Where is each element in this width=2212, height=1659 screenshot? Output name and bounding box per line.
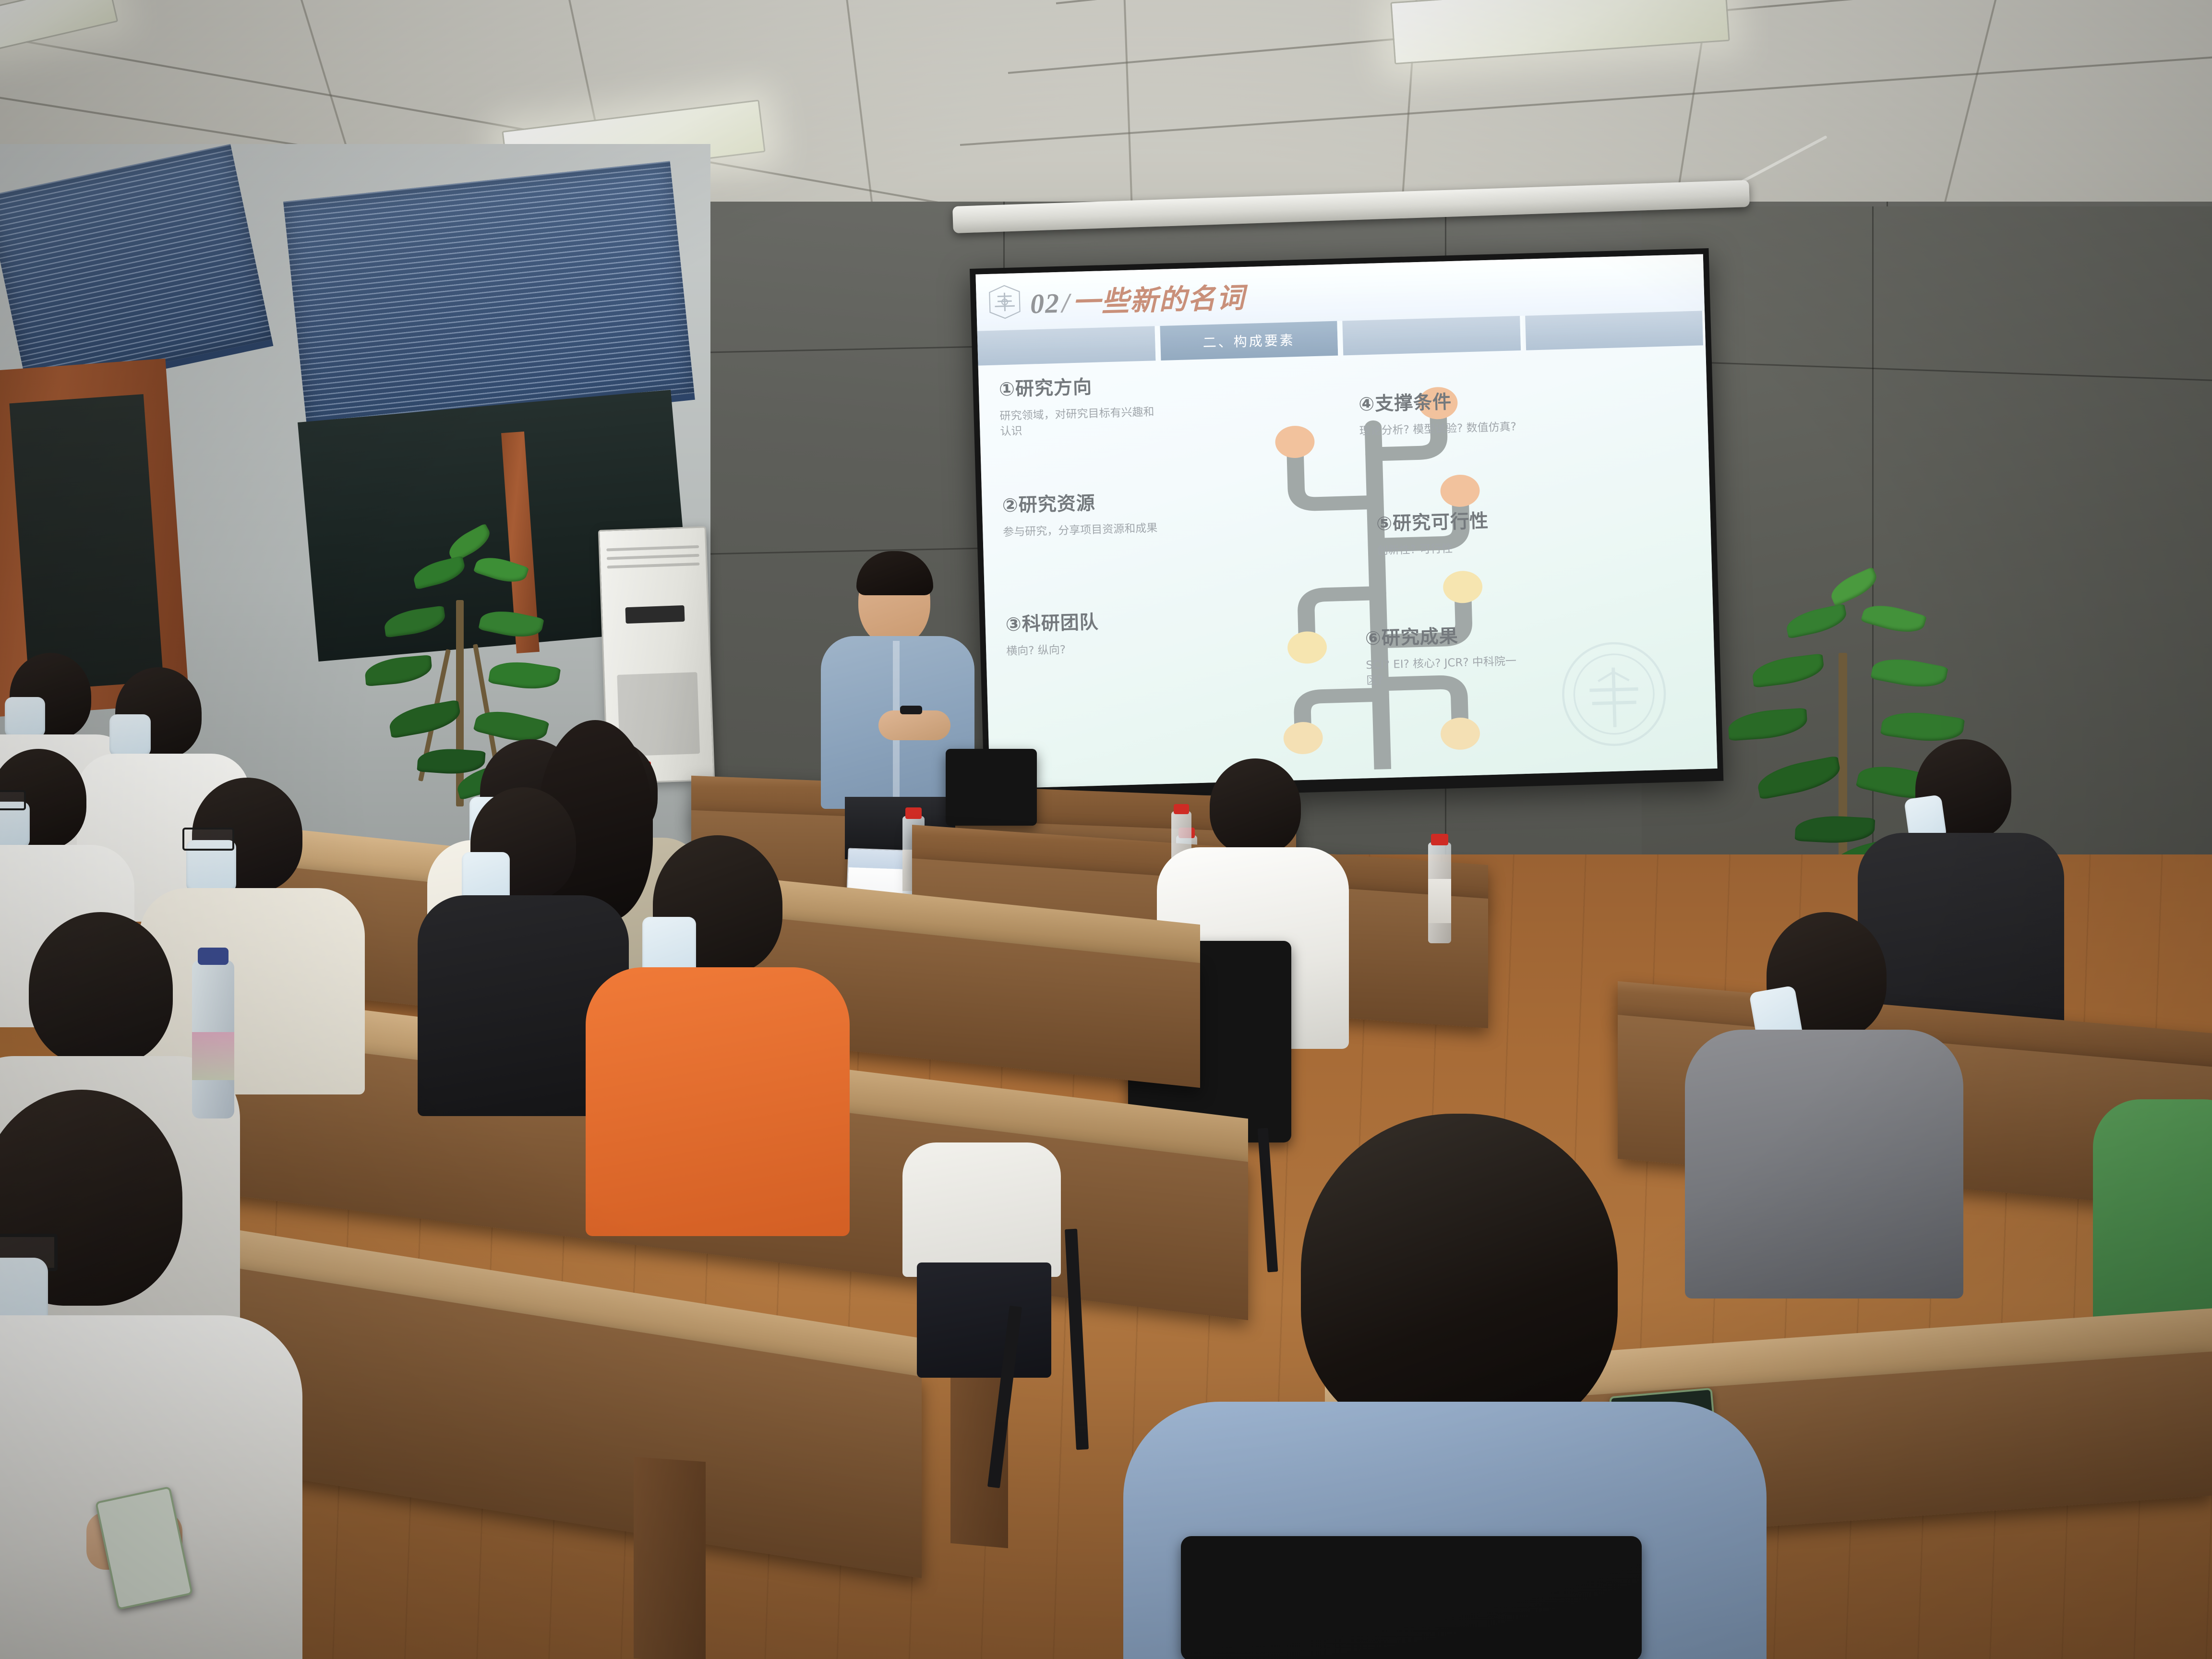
slide-item-3-title: ③科研团队	[1005, 605, 1164, 637]
slide-item-6-sub: SCI? EI? 核心? JCR? 中科院一区?	[1366, 654, 1525, 689]
slide-item-5-sub: 创新性? 可行性	[1377, 539, 1536, 559]
slide-content: 02/一些新的名词 二、构成要素	[975, 254, 1717, 789]
eyeglasses	[182, 828, 234, 851]
student-orange-shirt	[586, 967, 850, 1236]
student-head-back	[1301, 1114, 1618, 1440]
slide-item-2-label: 研究资源	[1018, 493, 1095, 516]
desk-leg	[634, 1457, 706, 1659]
slide-item-6-marker: ⑥	[1365, 627, 1382, 649]
presenter-watch	[900, 706, 922, 714]
tree-node-6	[1283, 721, 1323, 755]
slide-item-4-label: 支撑条件	[1375, 391, 1452, 415]
water-bottle	[192, 960, 234, 1118]
projection-screen-surface: 02/一些新的名词 二、构成要素	[975, 254, 1717, 789]
face-mask	[5, 697, 45, 737]
slide-item-3-sub: 横向? 纵向?	[1006, 640, 1165, 660]
tree-node-4	[1287, 631, 1327, 664]
slide-item-4-title: ④支撑条件	[1358, 385, 1517, 416]
slide-item-2: ②研究资源 参与研究，分享项目资源和成果	[1002, 486, 1162, 541]
tree-node-5	[1443, 570, 1483, 603]
slide-body: ①研究方向 研究领域，对研究目标有兴趣和认识 ②研究资源 参与研究，分享项目资源…	[978, 345, 1718, 789]
tree-node-2	[1274, 425, 1315, 458]
nav-segment-2[interactable]: 二、构成要素	[1160, 321, 1340, 361]
slide-item-1-title: ①研究方向	[998, 370, 1157, 401]
slide-item-1: ①研究方向 研究领域，对研究目标有兴趣和认识	[998, 370, 1159, 440]
slide-item-1-label: 研究方向	[1015, 376, 1092, 400]
presenter-hair	[856, 551, 933, 595]
slide-item-3: ③科研团队 横向? 纵向?	[1005, 605, 1165, 660]
bottle-cap	[1431, 834, 1448, 845]
university-emblem-icon	[986, 283, 1023, 321]
slide-item-5-marker: ⑤	[1376, 513, 1393, 535]
student-shirt	[0, 1315, 302, 1659]
presenter-hands	[878, 710, 950, 740]
nav-segment-4[interactable]	[1525, 311, 1706, 350]
student-shirt	[2093, 1099, 2212, 1339]
bottle-cap	[198, 948, 228, 965]
student-foreground	[0, 1090, 312, 1659]
bottle-cap	[905, 807, 922, 819]
student-seated	[1695, 912, 1954, 1296]
slide-item-1-marker: ①	[998, 378, 1015, 400]
slide-item-4-marker: ④	[1358, 394, 1375, 416]
slide-item-4: ④支撑条件 理论分析? 模型试验? 数值仿真?	[1358, 385, 1518, 439]
projection-screen[interactable]: 02/一些新的名词 二、构成要素	[970, 248, 1723, 802]
student-shirt	[902, 1142, 1061, 1277]
slide-title-text: 一些新的名词	[1072, 282, 1246, 318]
student-seated	[902, 1142, 1085, 1392]
face-mask	[642, 917, 696, 975]
student-sweater	[1685, 1030, 1963, 1298]
slide-item-1-sub: 研究领域，对研究目标有兴趣和认识	[999, 405, 1159, 440]
slide-title: 02/一些新的名词	[1030, 275, 1246, 321]
student-trousers	[917, 1262, 1051, 1378]
water-bottle	[1428, 842, 1451, 943]
ac-display-panel	[625, 605, 685, 624]
slide-item-5-title: ⑤研究可行性	[1376, 505, 1535, 536]
bottle-label	[192, 1032, 234, 1080]
chair[interactable]	[946, 749, 1037, 826]
tree-node-3	[1440, 474, 1480, 507]
tree-node-7	[1440, 717, 1480, 750]
slide-item-5-label: 研究可行性	[1393, 510, 1489, 535]
bottle-label	[1428, 879, 1451, 923]
slide-item-3-label: 科研团队	[1022, 612, 1099, 635]
slide-item-5: ⑤研究可行性 创新性? 可行性	[1376, 505, 1536, 559]
nav-segment-3[interactable]	[1342, 316, 1523, 355]
slide-title-number: 02	[1030, 288, 1060, 320]
slide-item-2-title: ②研究资源	[1002, 486, 1161, 517]
student-head	[29, 912, 173, 1066]
nav-segment-1[interactable]	[977, 326, 1158, 365]
slide-item-6-title: ⑥研究成果	[1365, 619, 1524, 650]
student-head	[1210, 758, 1301, 854]
door-glass	[9, 394, 163, 691]
chair[interactable]	[1181, 1536, 1642, 1659]
slide-title-separator: /	[1061, 287, 1071, 318]
university-seal-watermark-icon	[1557, 637, 1671, 751]
slide-item-6: ⑥研究成果 SCI? EI? 核心? JCR? 中科院一区?	[1365, 619, 1525, 689]
slide-item-2-sub: 参与研究，分享项目资源和成果	[1003, 521, 1162, 541]
eyeglasses	[0, 790, 26, 810]
student-seated	[2079, 1042, 2212, 1339]
slide-item-6-label: 研究成果	[1381, 625, 1458, 649]
slide-item-2-marker: ②	[1002, 494, 1019, 517]
classroom-scene: 02/一些新的名词 二、构成要素	[0, 0, 2212, 1659]
slide-item-3-marker: ③	[1005, 613, 1022, 636]
student-seated	[590, 835, 840, 1229]
